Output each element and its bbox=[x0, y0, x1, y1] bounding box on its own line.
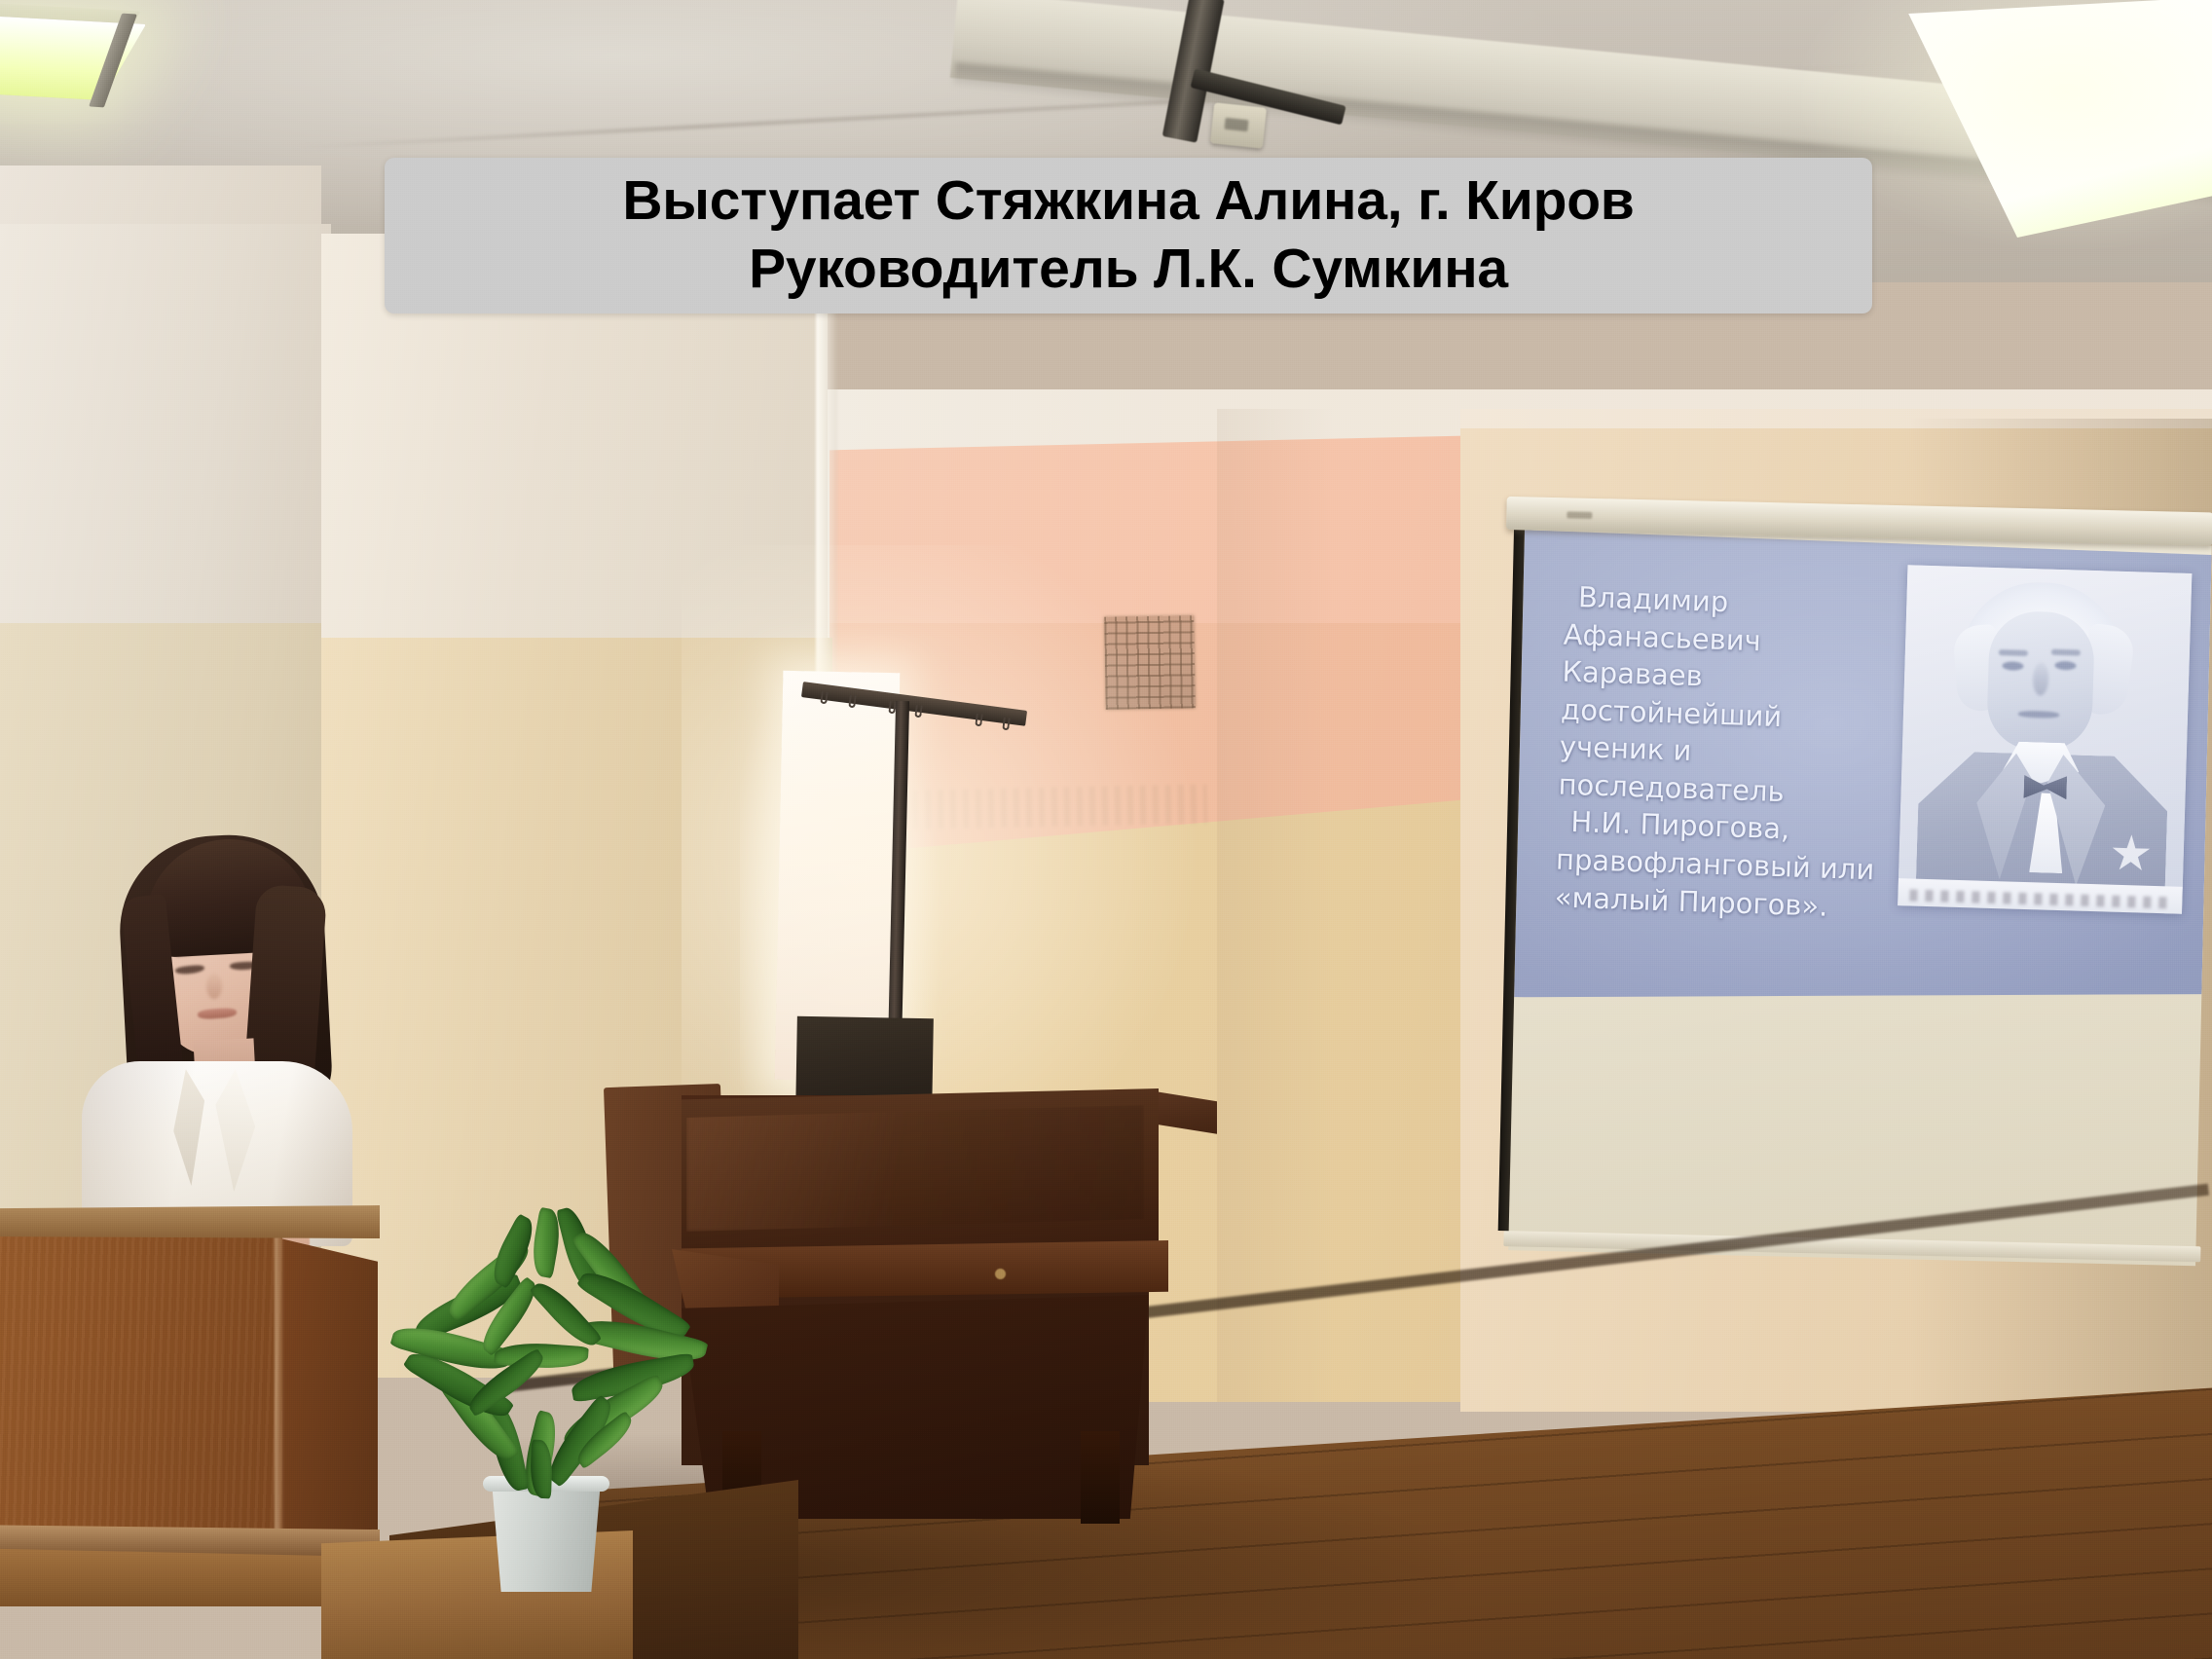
photograph-scene: Владимир Афанасьевич Караваев достойнейш… bbox=[0, 0, 2212, 1659]
nose bbox=[206, 974, 222, 999]
portrait-eye-right bbox=[2054, 661, 2076, 671]
portrait-brow-left bbox=[1999, 649, 2028, 656]
podium-front-edge bbox=[275, 1225, 284, 1556]
projection-screen: Владимир Афанасьевич Караваев достойнейш… bbox=[1492, 487, 2212, 1281]
ventilation-grille bbox=[1104, 615, 1196, 710]
caption-line-1: Выступает Стяжкина Алина, г. Киров bbox=[622, 167, 1634, 236]
piano-lock-icon bbox=[995, 1269, 1006, 1279]
slide-line-3: достойнейший ученик bbox=[1559, 692, 1782, 766]
speaker-person bbox=[58, 818, 389, 1236]
roller-case-label bbox=[1567, 511, 1592, 519]
caption-banner: Выступает Стяжкина Алина, г. Киров Руков… bbox=[385, 158, 1872, 313]
piano-leg-right bbox=[1081, 1431, 1120, 1524]
slide-text-block: Владимир Афанасьевич Караваев достойнейш… bbox=[1554, 578, 1886, 927]
caption-line-2: Руководитель Л.К. Сумкина bbox=[749, 236, 1508, 304]
slide-line-2: Афанасьевич Караваев bbox=[1562, 617, 1761, 692]
junction-box-label bbox=[1224, 118, 1248, 131]
slide-portrait-photo bbox=[1898, 565, 2192, 914]
podium-top-ledge bbox=[0, 1205, 380, 1238]
slide-line-7: «малый Пирогов». bbox=[1554, 880, 1828, 922]
portrait-eye-left bbox=[2002, 661, 2023, 671]
portrait-brow-right bbox=[2051, 649, 2081, 656]
potted-plant bbox=[331, 1198, 759, 1587]
slide-line-6: правофланговый или bbox=[1556, 842, 1875, 886]
podium-wood-grain bbox=[0, 1217, 282, 1548]
